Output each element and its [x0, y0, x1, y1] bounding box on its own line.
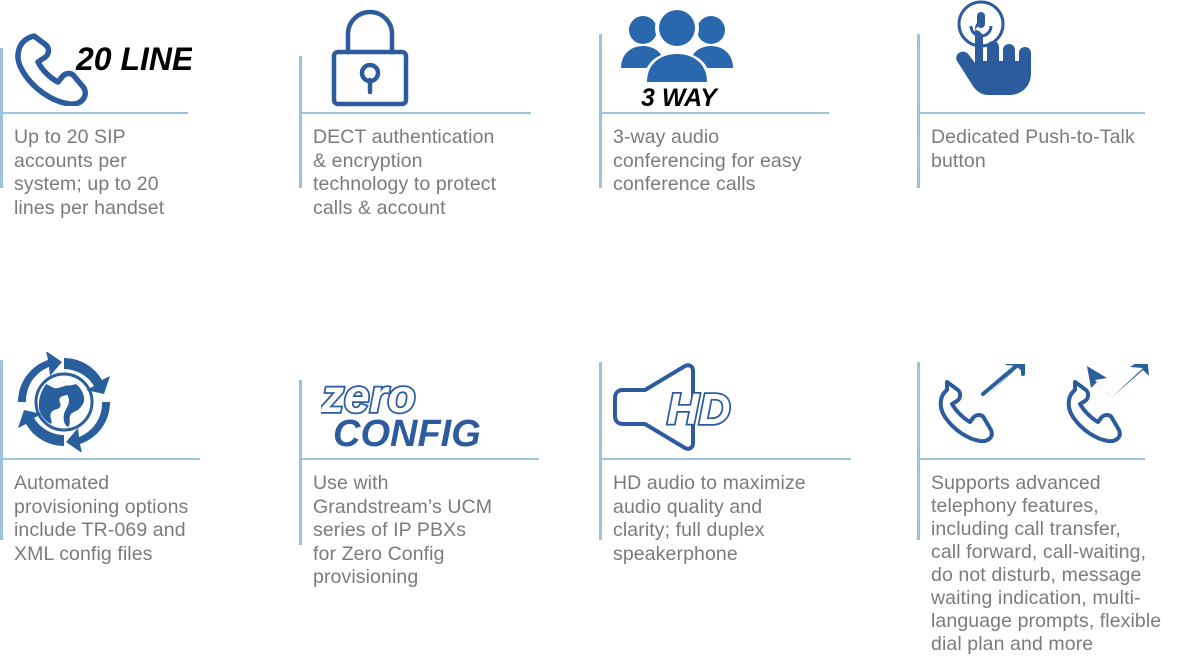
feature-card-advanced-telephony: Supports advanced telephony features, in… [917, 340, 1200, 641]
config-word: CONFIG [333, 413, 481, 452]
feature-card-three-way-conference: 3 WAY 3-way audio conferencing for easy … [599, 0, 919, 300]
feature-description: Automated provisioning options include T… [14, 472, 284, 566]
feature-card-zero-config: zero CONFIG Use with Grandstream’s UCM s… [299, 340, 599, 641]
horizontal-rule [299, 458, 539, 460]
horizontal-rule [599, 458, 851, 460]
feature-description: Dedicated Push-to-Talk button [931, 126, 1200, 173]
icon-wordmark-hd: HD [667, 385, 731, 434]
feature-card-sip-lines: 20 LINES Up to 20 SIP accounts per syste… [0, 0, 300, 300]
horizontal-rule [0, 458, 200, 460]
globe-refresh-arrows-icon [10, 352, 118, 457]
horizontal-rule [917, 458, 1145, 460]
horizontal-rule [0, 112, 188, 114]
icon-wordmark-3-way: 3 WAY [641, 84, 719, 108]
vertical-rule [599, 362, 602, 540]
feature-card-auto-provisioning: Automated provisioning options include T… [0, 340, 300, 641]
feature-description: Supports advanced telephony features, in… [931, 472, 1200, 656]
feature-description: 3-way audio conferencing for easy confer… [613, 126, 893, 197]
vertical-rule [0, 48, 3, 188]
vertical-rule [0, 360, 3, 540]
feature-description: Use with Grandstream’s UCM series of IP … [313, 472, 583, 590]
vertical-rule [917, 362, 920, 540]
vertical-rule [917, 34, 920, 188]
phone-handset-20-lines-icon: 20 LINES [12, 28, 192, 111]
feature-description: DECT authentication & encryption technol… [313, 126, 583, 220]
hand-pressing-microphone-button-icon [935, 0, 1039, 109]
icon-wordmark-20-lines: 20 LINES [75, 41, 192, 77]
vertical-rule [299, 56, 302, 188]
feature-grid: 20 LINES Up to 20 SIP accounts per syste… [0, 0, 1200, 641]
padlock-icon [325, 8, 415, 113]
feature-card-push-to-talk: Dedicated Push-to-Talk button [917, 0, 1200, 300]
vertical-rule [599, 34, 602, 188]
call-transfer-forward-handsets-icon [935, 364, 1185, 455]
vertical-rule [299, 380, 302, 545]
hd-speaker-icon: HD [609, 362, 759, 457]
feature-description: HD audio to maximize audio quality and c… [613, 472, 903, 566]
three-people-group-icon: 3 WAY [617, 6, 737, 113]
feature-description: Up to 20 SIP accounts per system; up to … [14, 126, 264, 220]
zero-config-wordmark-icon: zero CONFIG [321, 372, 501, 457]
feature-card-hd-audio: HD HD audio to maximize audio quality an… [599, 340, 919, 641]
horizontal-rule [917, 112, 1145, 114]
feature-card-dect-security: DECT authentication & encryption technol… [299, 0, 599, 300]
